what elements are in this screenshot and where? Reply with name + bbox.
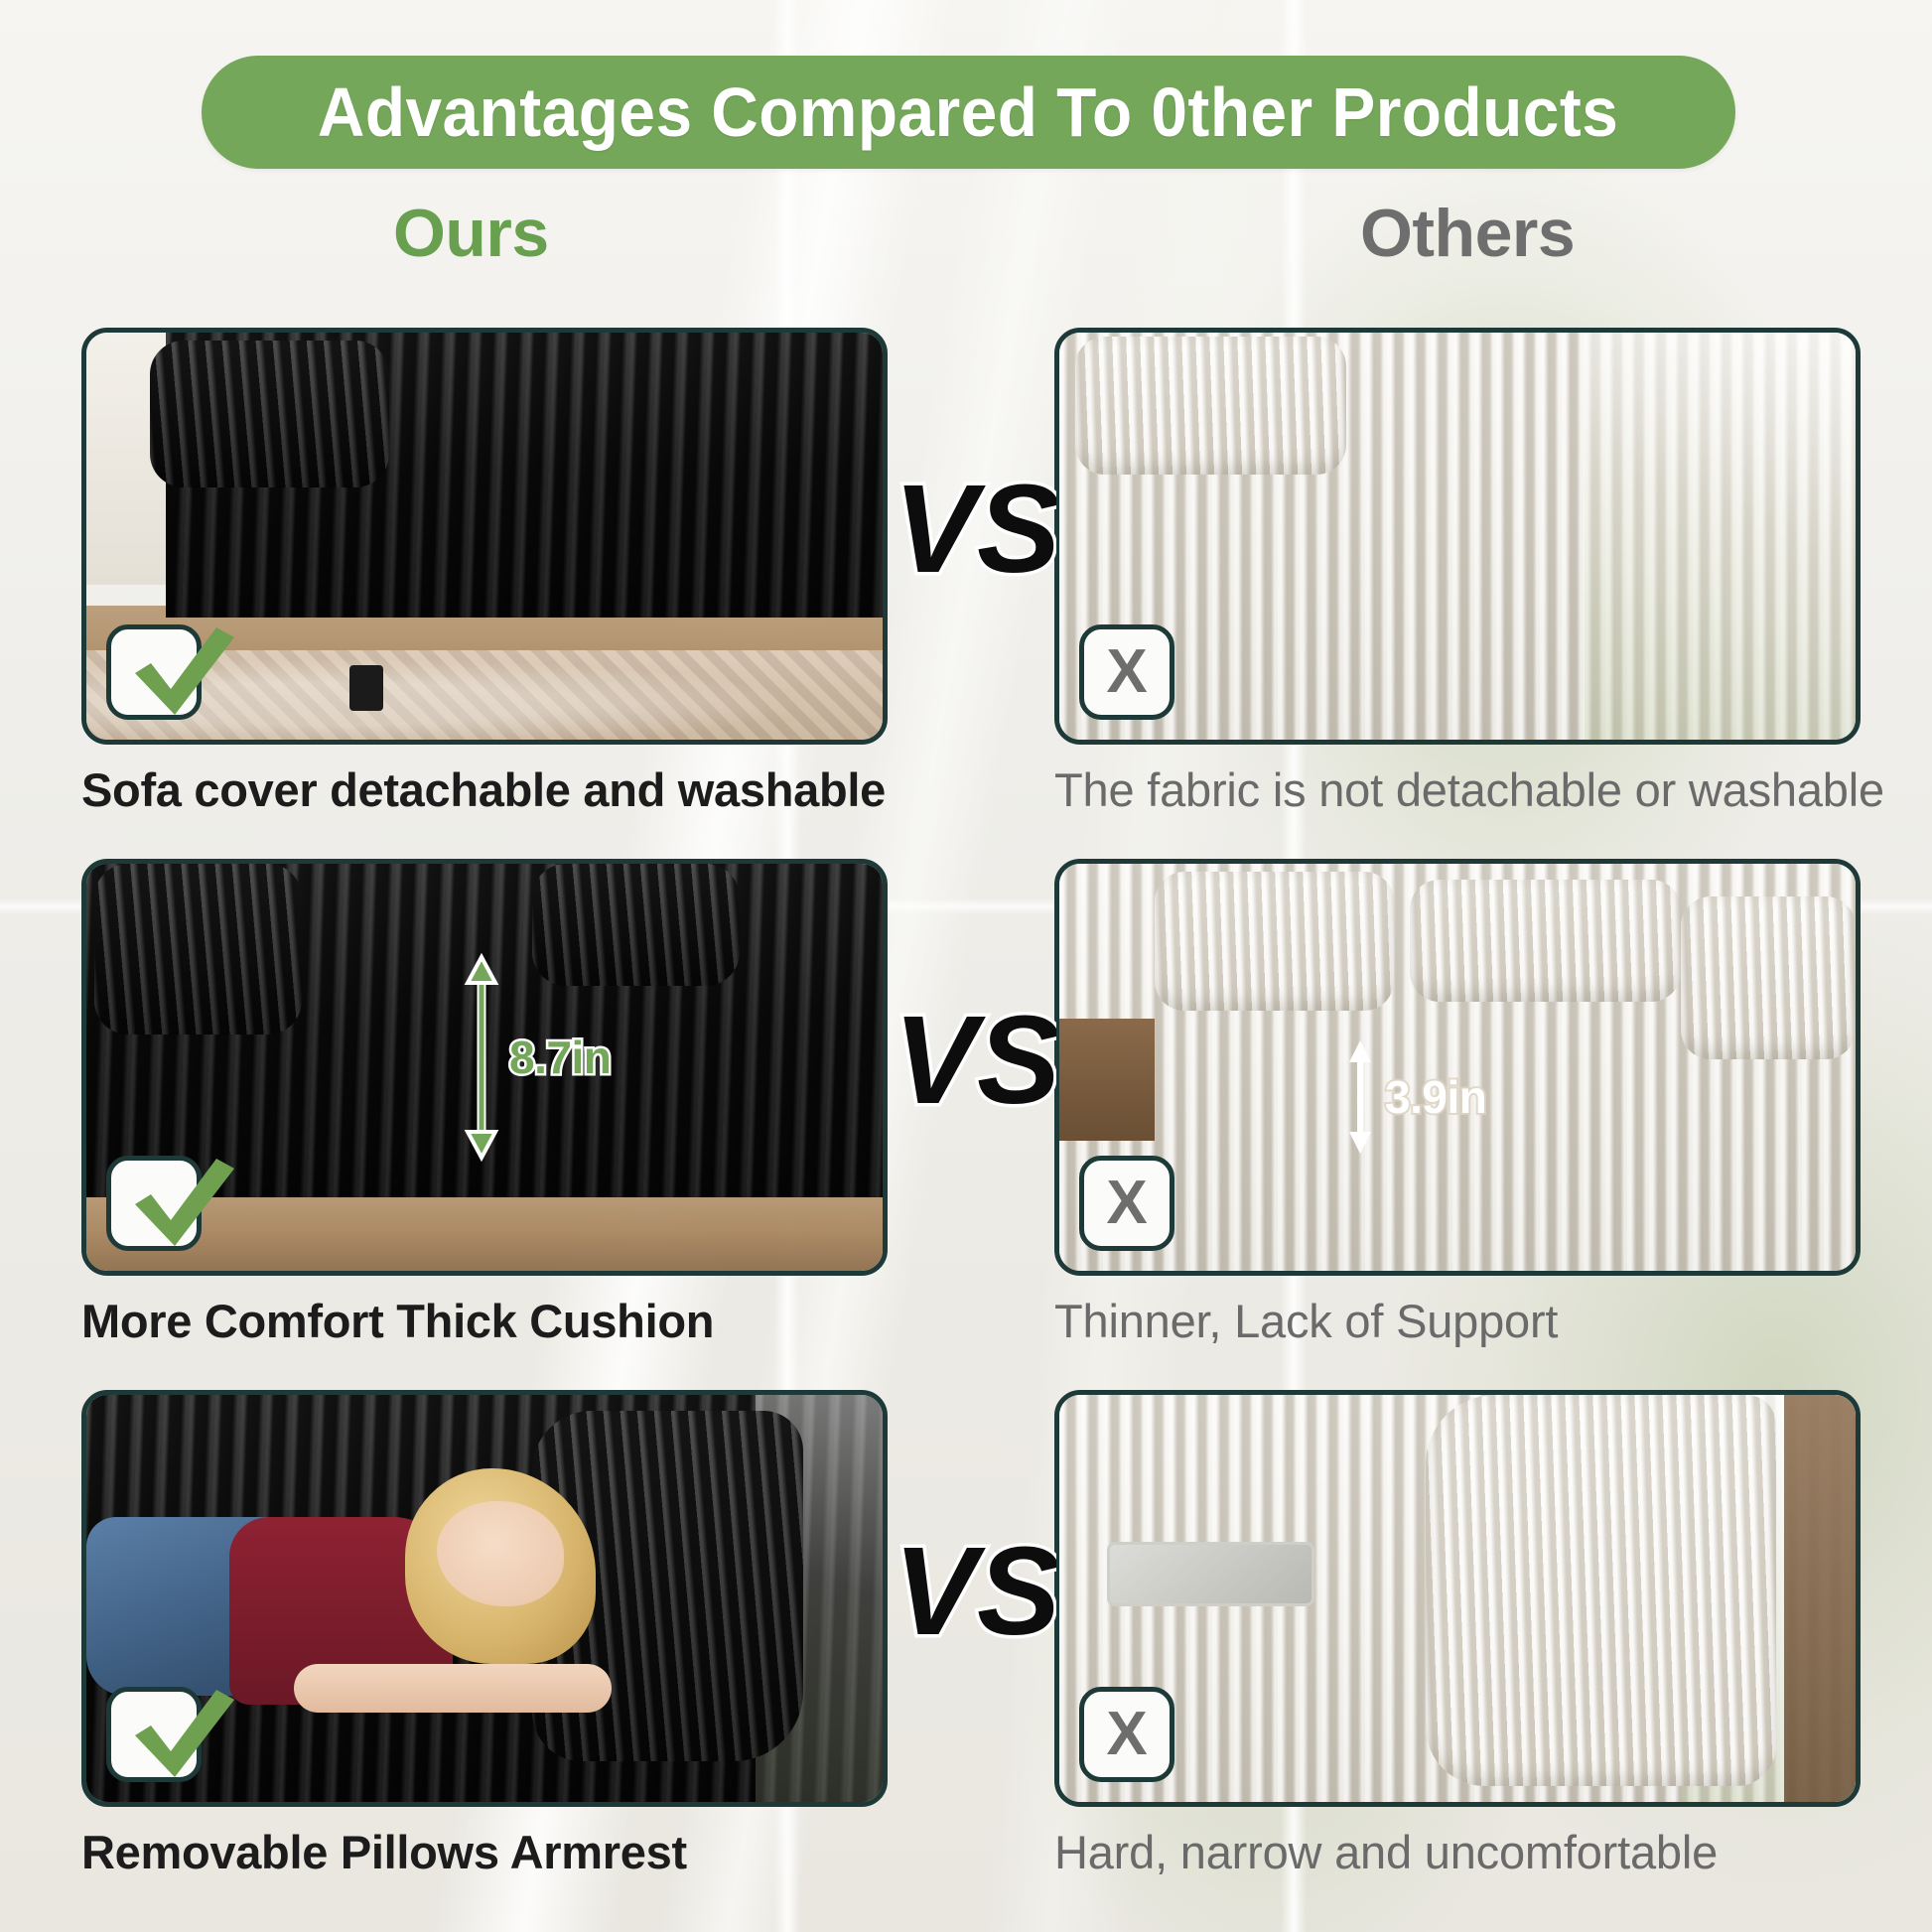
room-rug	[86, 650, 883, 740]
title-banner: Advantages Compared To 0ther Products	[202, 56, 1735, 169]
svg-text:VS: VS	[894, 1521, 1056, 1661]
caption-others: The fabric is not detachable or washable	[1054, 762, 1884, 817]
product-photo-others: 3.9in X	[1054, 859, 1861, 1276]
x-icon: X	[1106, 641, 1147, 703]
x-icon: X	[1106, 1704, 1147, 1765]
vs-icon: VS	[888, 986, 1056, 1135]
caption-others: Thinner, Lack of Support	[1054, 1294, 1558, 1348]
vs-divider: VS	[888, 1517, 1056, 1666]
sofa-armrest	[1681, 897, 1856, 1059]
product-photo-ours	[81, 1390, 888, 1807]
others-cell: 3.9in X Thinner, Lack of Support	[1054, 859, 1861, 1276]
ours-cell: Removable Pillows Armrest	[81, 1390, 888, 1807]
comparison-rows: Sofa cover detachable and washable VS X …	[0, 328, 1932, 1921]
double-arrow-icon	[464, 953, 499, 1162]
dimension-annotation-others: 3.9in	[1345, 1038, 1486, 1156]
comparison-row: Removable Pillows Armrest VS X	[0, 1390, 1932, 1921]
comparison-row: 8.7in More Comfort Thick Cushion VS	[0, 859, 1932, 1390]
title-pill: Advantages Compared To 0ther Products	[202, 56, 1735, 169]
others-cell: X The fabric is not detachable or washab…	[1054, 328, 1861, 745]
vs-icon: VS	[888, 455, 1056, 604]
wood-shelf	[1784, 1395, 1856, 1802]
dimension-annotation-ours: 8.7in	[464, 953, 611, 1162]
caption-others: Hard, narrow and uncomfortable	[1054, 1825, 1718, 1879]
column-header-ours: Ours	[393, 195, 549, 272]
status-badge-check	[106, 1687, 202, 1782]
x-icon: X	[1106, 1173, 1147, 1234]
status-badge-check	[106, 1156, 202, 1251]
product-photo-ours: 8.7in	[81, 859, 888, 1276]
tablet-device	[1107, 1542, 1314, 1607]
dimension-value-others: 3.9in	[1385, 1070, 1486, 1124]
person-arm	[294, 1664, 613, 1713]
sofa-cushion	[150, 341, 389, 487]
status-badge-x: X	[1079, 1156, 1174, 1251]
sofa-pillow	[1155, 872, 1394, 1010]
vs-icon: VS	[888, 1517, 1056, 1666]
status-badge-x: X	[1079, 624, 1174, 720]
sofa-pillow	[1410, 880, 1681, 1002]
status-badge-check	[106, 624, 202, 720]
dimension-value-ours: 8.7in	[509, 1031, 611, 1084]
column-header-others: Others	[1360, 195, 1575, 272]
page-title: Advantages Compared To 0ther Products	[318, 72, 1618, 152]
double-arrow-icon	[1345, 1038, 1375, 1156]
sofa-backrest	[1075, 337, 1346, 475]
ours-cell: 8.7in More Comfort Thick Cushion	[81, 859, 888, 1276]
caption-ours: Removable Pillows Armrest	[81, 1825, 687, 1879]
svg-text:VS: VS	[894, 459, 1056, 599]
caption-ours: Sofa cover detachable and washable	[81, 762, 886, 817]
vs-divider: VS	[888, 986, 1056, 1135]
status-badge-x: X	[1079, 1687, 1174, 1782]
comparison-infographic: Advantages Compared To 0ther Products Ou…	[0, 0, 1932, 1932]
others-cell: X Hard, narrow and uncomfortable	[1054, 1390, 1861, 1807]
window-light	[1585, 333, 1856, 740]
sofa-backrest	[94, 864, 302, 1035]
vs-divider: VS	[888, 455, 1056, 604]
sofa-armrest	[1426, 1395, 1776, 1786]
comparison-row: Sofa cover detachable and washable VS X …	[0, 328, 1932, 859]
caption-ours: More Comfort Thick Cushion	[81, 1294, 714, 1348]
sofa-leg	[349, 665, 383, 711]
ours-cell: Sofa cover detachable and washable	[81, 328, 888, 745]
product-photo-ours	[81, 328, 888, 745]
side-table	[1059, 1019, 1155, 1141]
product-photo-others: X	[1054, 328, 1861, 745]
product-photo-others: X	[1054, 1390, 1861, 1807]
svg-text:VS: VS	[894, 990, 1056, 1130]
